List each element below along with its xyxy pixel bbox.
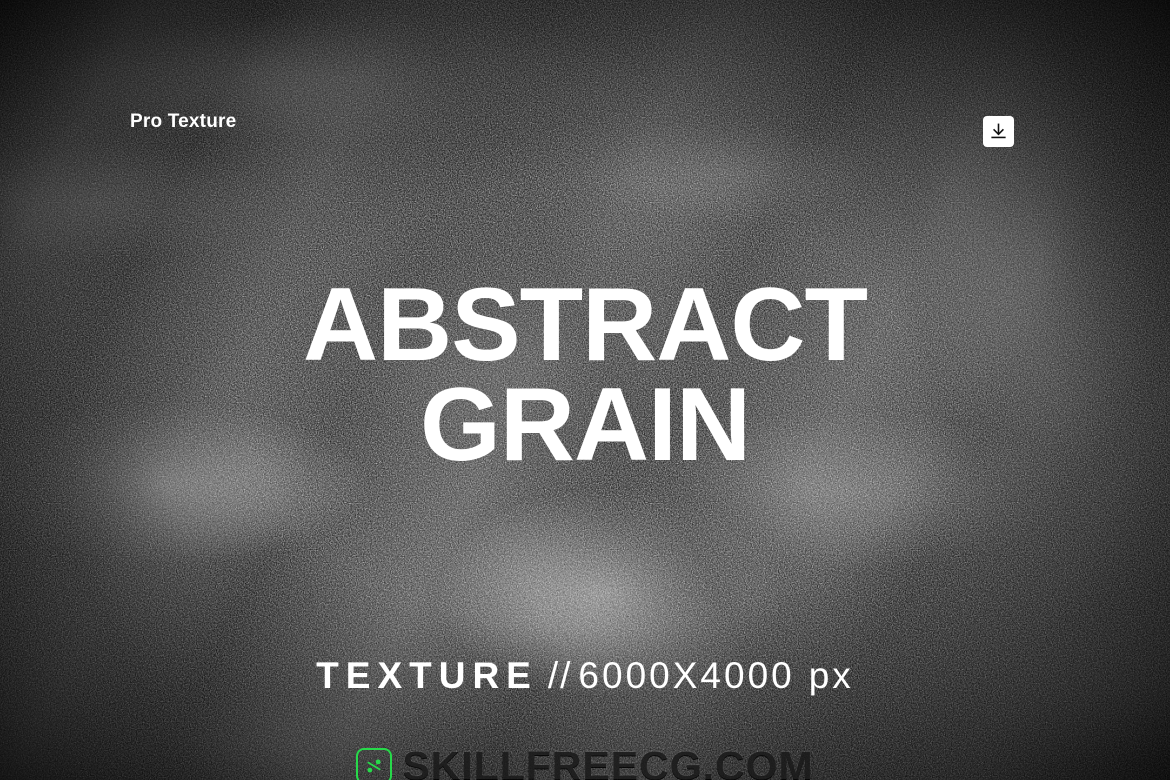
watermark-text: SKILLFREECG.COM	[402, 745, 813, 780]
texture-meta: TEXTURE//6000X4000px	[0, 655, 1170, 697]
download-icon	[989, 122, 1008, 141]
texture-dimensions-unit: px	[809, 655, 854, 696]
page-title: ABSTRACT GRAIN	[0, 276, 1170, 476]
texture-type-label: TEXTURE	[316, 655, 538, 696]
download-button[interactable]	[983, 116, 1014, 147]
page-title-line-2: GRAIN	[0, 376, 1170, 476]
watermark: SKILLFREECG.COM	[0, 745, 1170, 780]
share-nodes-icon	[356, 748, 392, 780]
brand-label: Pro Texture	[130, 112, 236, 131]
texture-meta-separator: //	[548, 655, 573, 696]
texture-preview-canvas: Pro Texture ABSTRACT GRAIN TEXTURE//6000…	[0, 0, 1170, 780]
texture-dimensions: 6000X4000	[578, 655, 794, 696]
page-title-line-1: ABSTRACT	[0, 276, 1170, 376]
